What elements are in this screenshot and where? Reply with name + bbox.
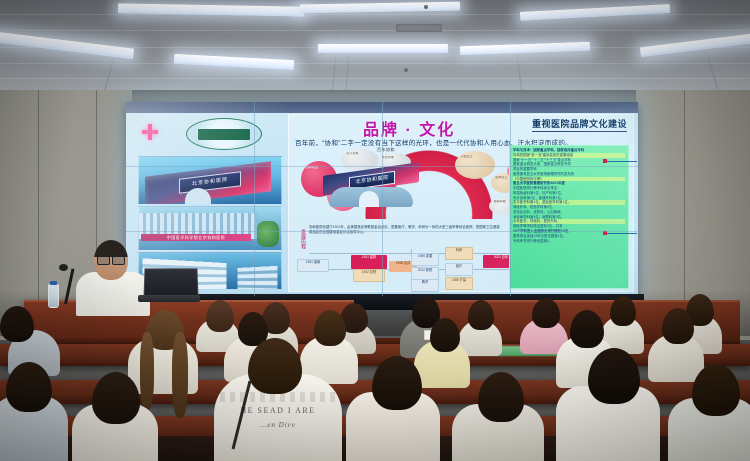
audience-member-head (430, 318, 460, 352)
photo-band-text: 中国医学科学院北京协和医院 (141, 234, 251, 241)
audience-member-head (0, 306, 34, 342)
audience-member-head (468, 300, 494, 330)
projection-screen[interactable]: 北京协和医院 中国医学科学院北京协和医院 重视医院品牌文化建设 品牌 · 文化 … (126, 102, 638, 296)
flow-paragraph: 协和医院创建于1921年，由美国洛克菲勒基金会创办，是集医疗、教学、科研为一体的… (309, 225, 501, 247)
audience-member-head (570, 310, 604, 348)
flow-vertical-label: 发展历程 (295, 229, 305, 249)
flow-node: 1959 发展 (411, 253, 439, 266)
flow-node: 1921 建院 (351, 255, 387, 269)
slide-left-photo-column: 北京协和医院 中国医学科学院北京协和医院 (130, 114, 284, 292)
tshirt-print: …en Dive (214, 421, 342, 430)
flow-node: 1951 接管 (297, 259, 329, 272)
flow-node: 科研 (445, 247, 473, 260)
slide-header-title: 重视医院品牌文化建设 (532, 117, 627, 132)
audience-member-head (206, 300, 234, 332)
flow-node: 1942 复院 (353, 269, 385, 282)
red-cross-icon (142, 124, 158, 140)
slide-top-bar (126, 102, 638, 113)
audience-member-head (662, 308, 694, 344)
eyeglasses-icon (97, 256, 125, 263)
ceiling-vent (396, 24, 442, 32)
water-bottle (48, 284, 59, 308)
tshirt-print: HE SEAD I ARE (214, 406, 342, 417)
presentation-slide: 北京协和医院 中国医学科学院北京协和医院 重视医院品牌文化建设 品牌 · 文化 … (126, 102, 638, 296)
slide-timeline-flow: 发展历程 协和医院创建于1921年，由美国洛克菲勒基金会创办，是集医疗、教学、科… (293, 223, 505, 289)
lecture-hall-photo: 北京协和医院 中国医学科学院北京协和医院 重视医院品牌文化建设 品牌 · 文化 … (0, 0, 750, 461)
slide-green-text-panel: 学科与技术：国家重点学科，国家临床重点专科 协和是国家“双一流”建设高校的重要组… (509, 145, 629, 289)
microphone-head (59, 264, 68, 271)
ceiling-light-panel (318, 44, 448, 53)
ceiling (0, 0, 750, 97)
green-line: 专科声誉排行榜全国第1。 (513, 239, 625, 244)
bubble: 人民至上 (455, 151, 495, 179)
ceiling-sprinkler (404, 68, 408, 72)
hair-strand (140, 332, 154, 410)
audience-member-head (692, 364, 740, 416)
tshirt-line-2: HE SEAD I ARE (240, 406, 315, 415)
slide-infographic: 百年协和 百年积淀 严谨求精 以人为本 文化传承 人民至上 生命至上 (293, 147, 505, 221)
audience-member-head (610, 296, 636, 326)
hospital-photo-gate: 北京协和医院 (138, 156, 282, 205)
flow-node: 医疗 (445, 263, 473, 276)
audience-member-head (314, 310, 346, 346)
infographic-gate-image: 北京协和医院 (323, 165, 419, 209)
flow-node: 1985 扩建 (445, 277, 473, 290)
tshirt-line-3: …en Dive (260, 421, 296, 429)
hospital-logo (186, 118, 262, 150)
audience-member-head (532, 298, 560, 328)
hospital-photo-building: 中国医学科学院北京协和医院 (138, 206, 282, 251)
hair-strand (172, 332, 188, 418)
slide-main-panel: 重视医院品牌文化建设 品牌 · 文化 百年前，“协和”二字一定没有当下这样的光环… (288, 114, 634, 292)
laptop (138, 268, 196, 302)
ceiling-sprinkler (424, 5, 428, 9)
